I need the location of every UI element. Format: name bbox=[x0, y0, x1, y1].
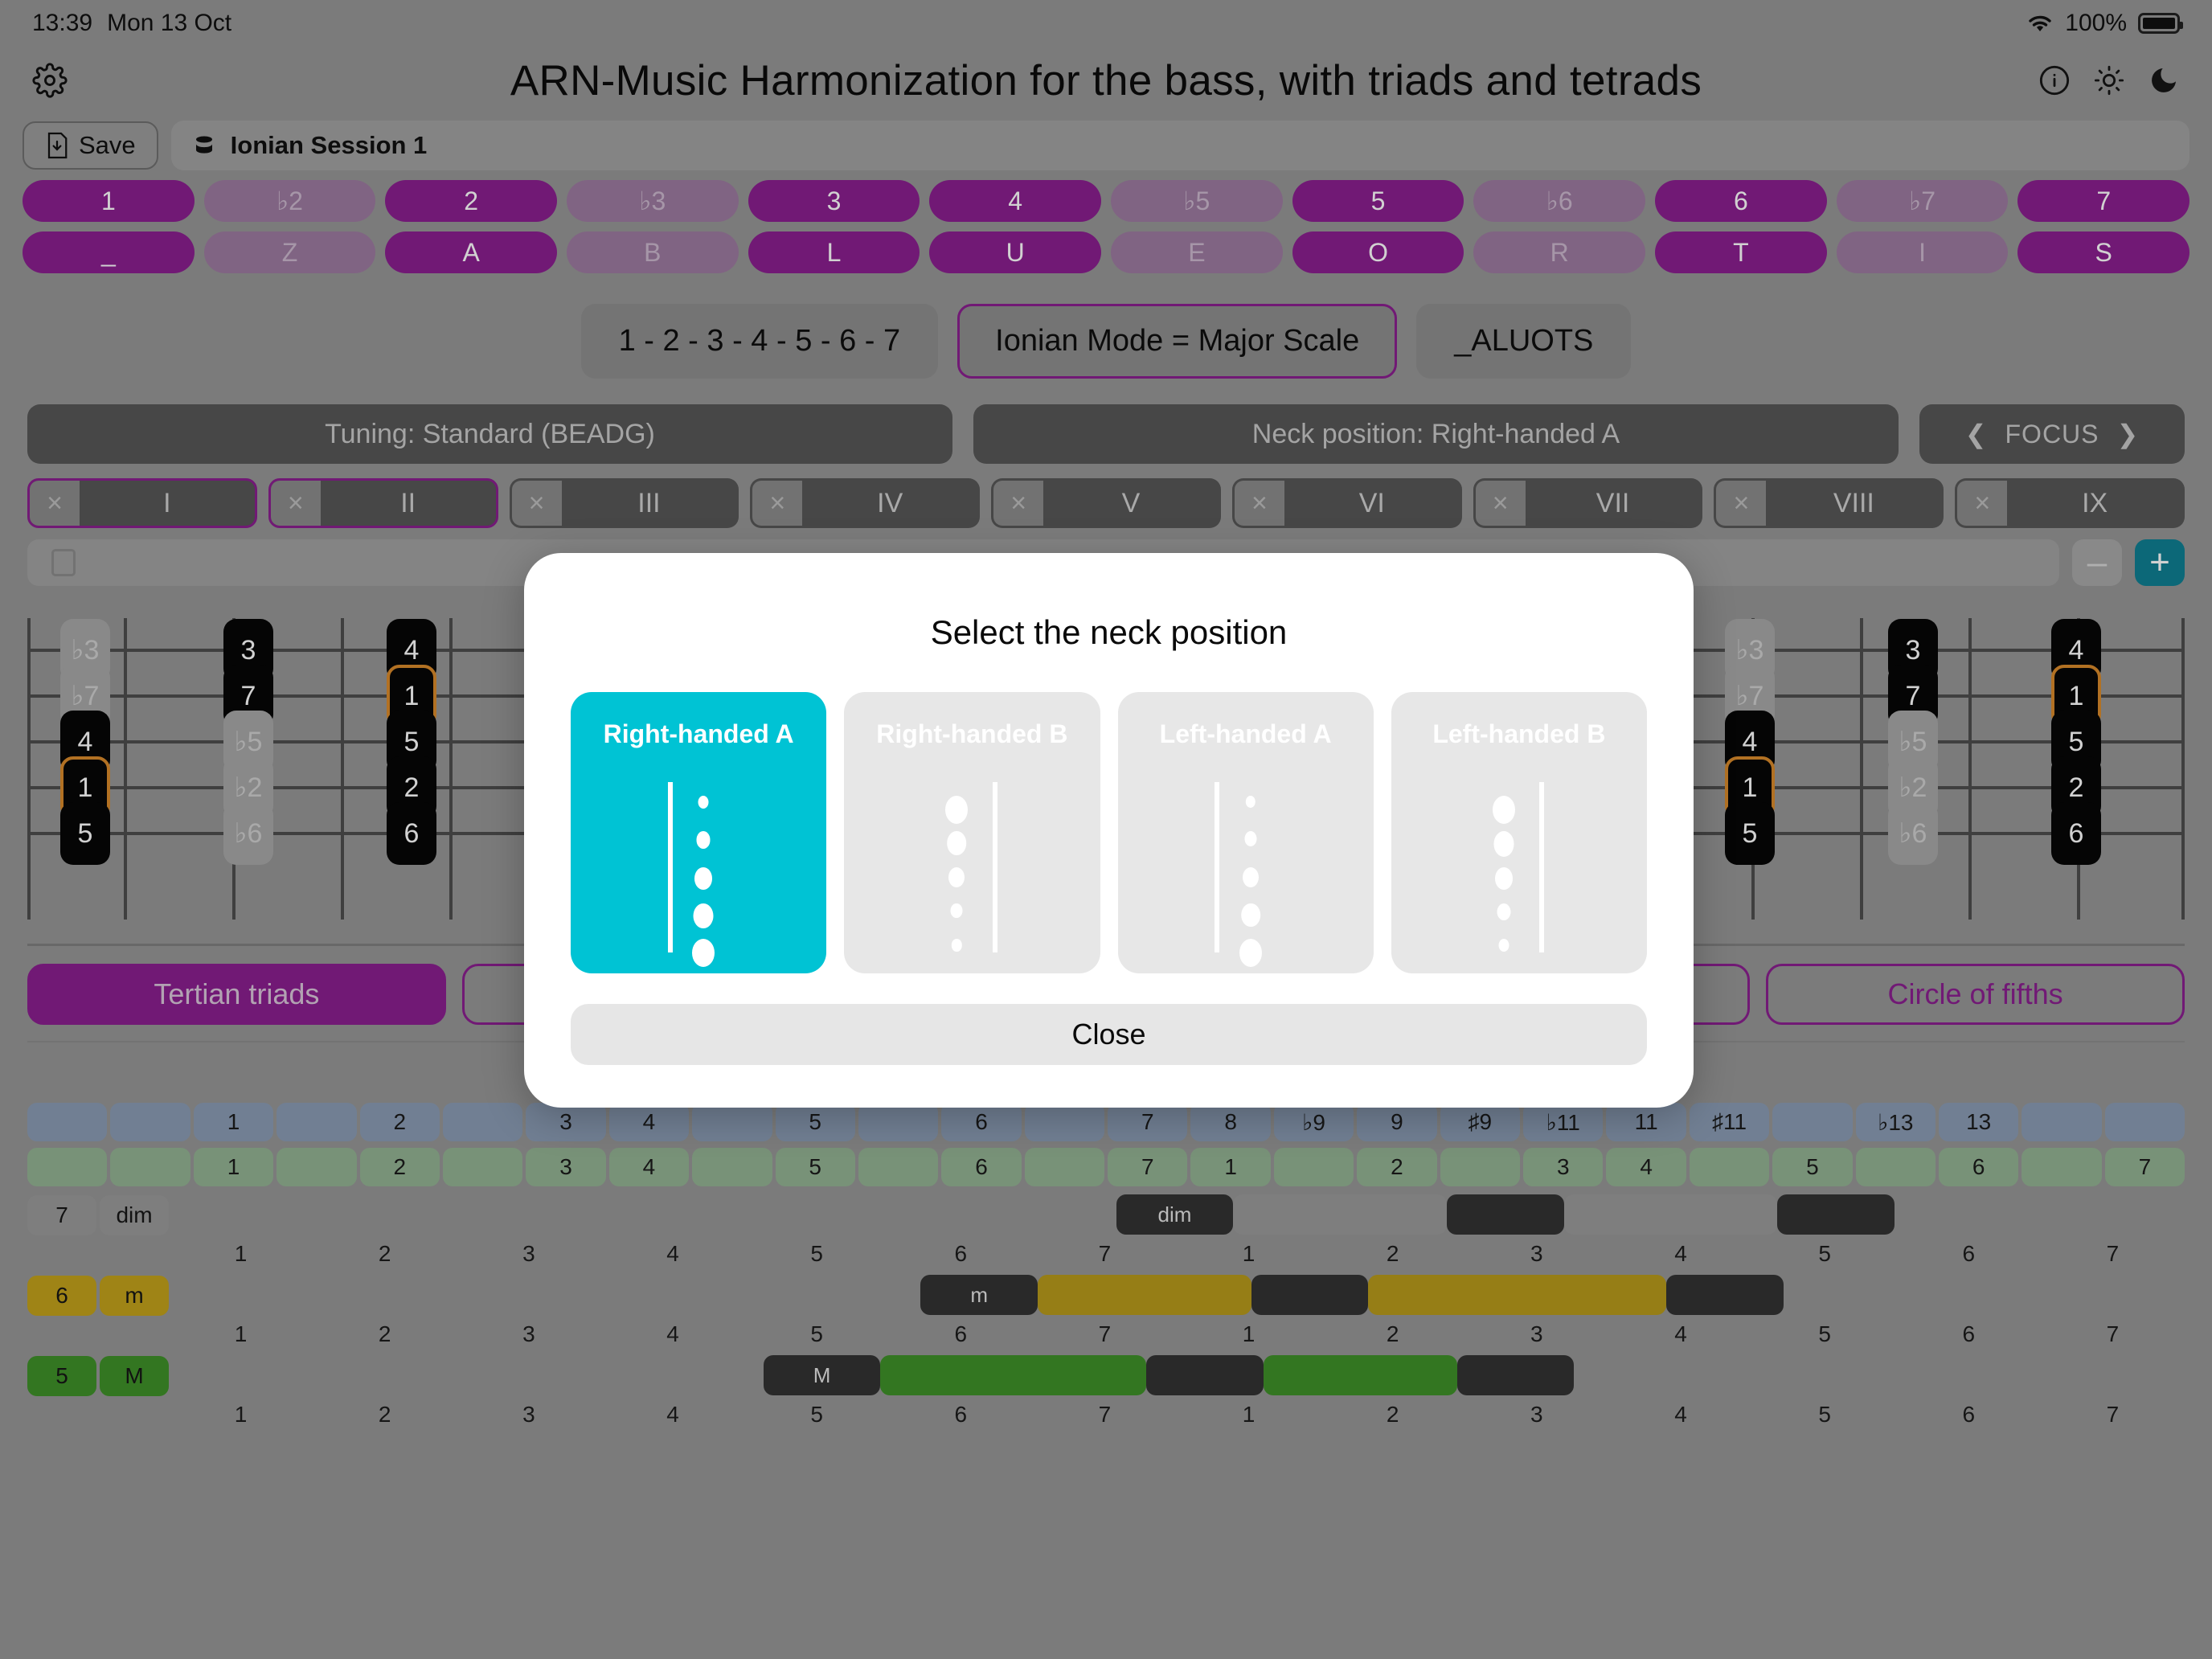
neck-line bbox=[1215, 782, 1219, 952]
neck-dot bbox=[948, 867, 965, 887]
neck-line bbox=[668, 782, 673, 952]
neck-diagram bbox=[571, 782, 826, 952]
neck-diagram bbox=[1118, 782, 1374, 952]
neck-dot bbox=[694, 903, 714, 928]
neck-option-0[interactable]: Right-handed A bbox=[571, 692, 826, 973]
neck-dot bbox=[952, 939, 961, 952]
neck-dot bbox=[698, 796, 709, 809]
neck-dot bbox=[1246, 796, 1256, 809]
info-icon[interactable] bbox=[2038, 64, 2071, 96]
neck-line bbox=[1539, 782, 1544, 952]
moon-icon[interactable] bbox=[2148, 64, 2180, 96]
neck-option-3[interactable]: Left-handed B bbox=[1391, 692, 1647, 973]
neck-dot bbox=[694, 867, 712, 890]
neck-option-2[interactable]: Left-handed A bbox=[1118, 692, 1374, 973]
neck-dot bbox=[1495, 867, 1513, 890]
neck-dot bbox=[1493, 831, 1514, 856]
sun-icon[interactable] bbox=[2093, 64, 2125, 96]
neck-diagram bbox=[1391, 782, 1647, 952]
neck-dot bbox=[947, 831, 966, 855]
neck-dot bbox=[697, 831, 711, 848]
neck-option-label: Right-handed A bbox=[571, 719, 826, 749]
neck-position-options: Right-handed ARight-handed BLeft-handed … bbox=[524, 652, 1694, 973]
neck-position-modal: Select the neck position Right-handed AR… bbox=[524, 553, 1694, 1108]
neck-dot bbox=[1493, 796, 1515, 824]
modal-title: Select the neck position bbox=[524, 553, 1694, 652]
neck-dot bbox=[692, 939, 715, 967]
neck-dot bbox=[1498, 939, 1509, 952]
neck-dot bbox=[1239, 939, 1262, 967]
neck-line bbox=[993, 782, 997, 952]
neck-option-label: Left-handed A bbox=[1118, 719, 1374, 749]
neck-dot bbox=[1243, 867, 1259, 887]
close-button[interactable]: Close bbox=[571, 1004, 1647, 1065]
neck-dot bbox=[1244, 831, 1256, 846]
neck-diagram bbox=[844, 782, 1100, 952]
neck-dot bbox=[1497, 903, 1510, 920]
neck-dot bbox=[1241, 903, 1260, 928]
neck-option-1[interactable]: Right-handed B bbox=[844, 692, 1100, 973]
neck-dot bbox=[951, 903, 963, 919]
neck-dot bbox=[945, 796, 968, 824]
neck-option-label: Left-handed B bbox=[1391, 719, 1647, 749]
neck-option-label: Right-handed B bbox=[844, 719, 1100, 749]
